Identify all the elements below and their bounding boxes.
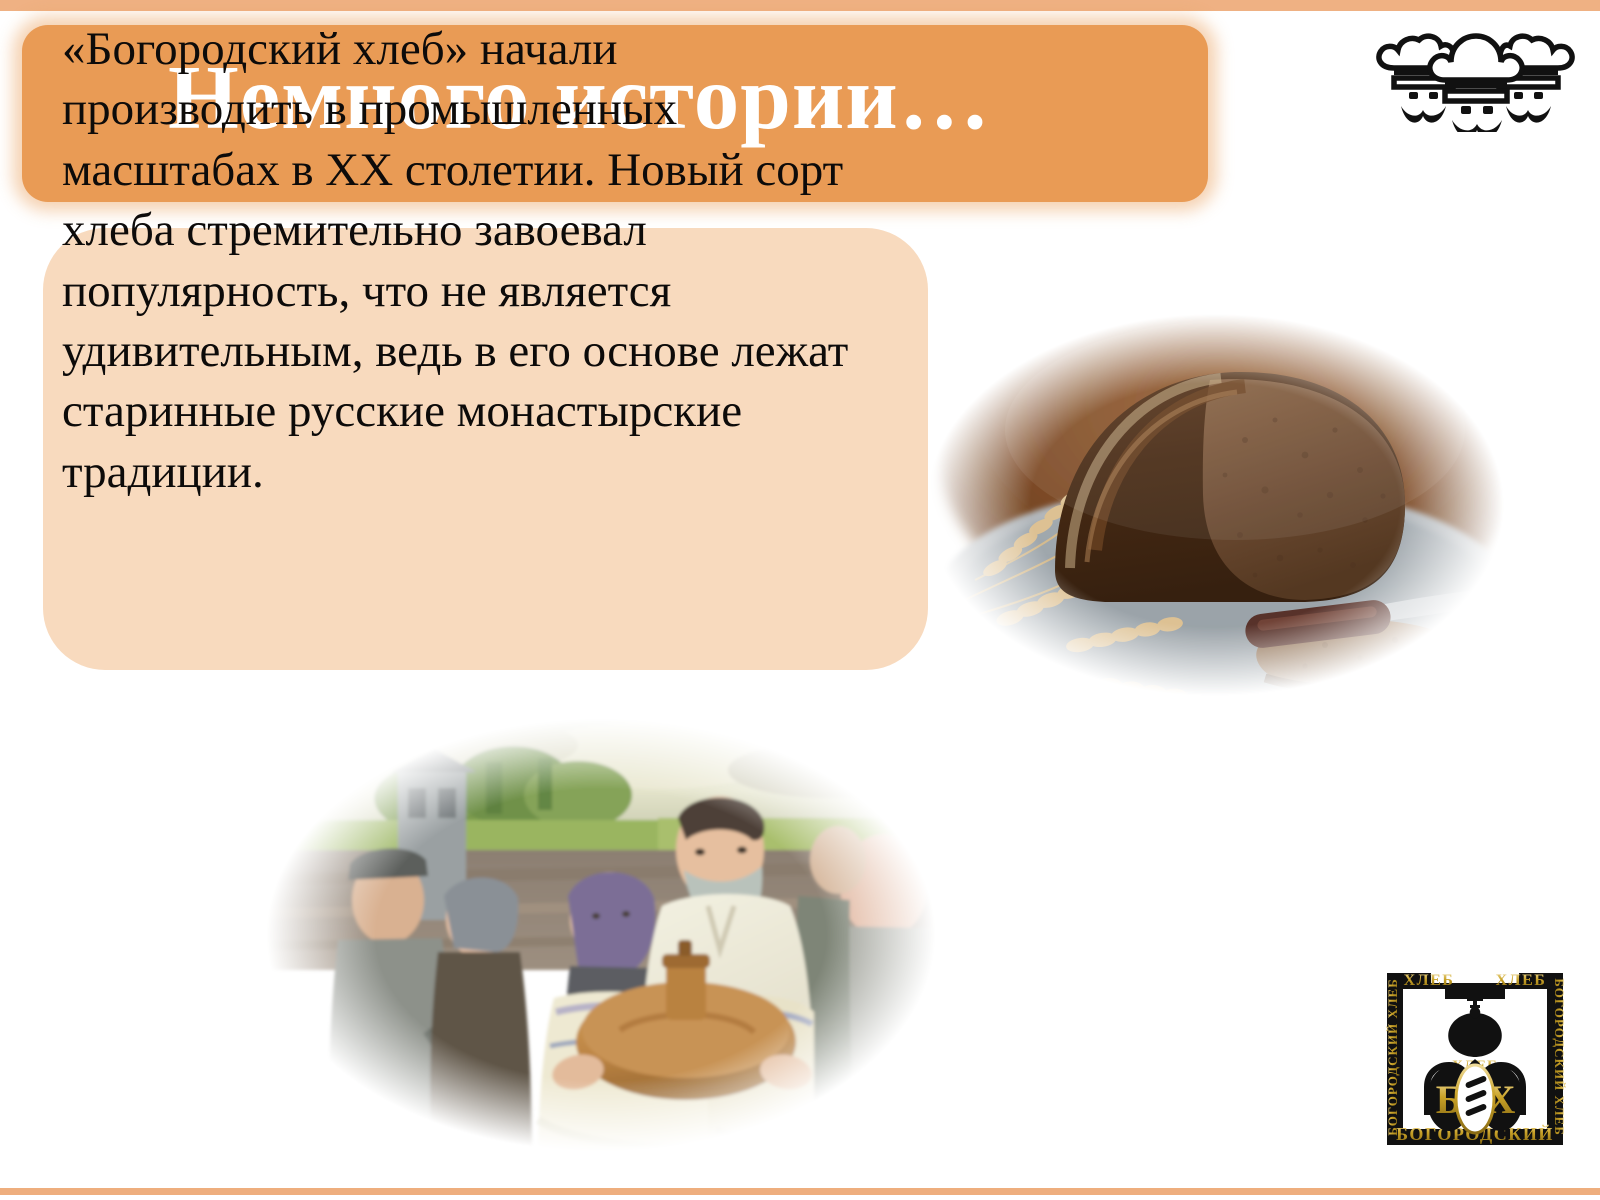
body-text: «Богородский хлеб» начали производить в … <box>62 19 874 502</box>
three-chef-hats-icon <box>1371 22 1581 132</box>
bread-and-salt-painting <box>238 700 964 1170</box>
bottom-accent-strip <box>0 1188 1600 1195</box>
dark-rye-bread-photo <box>905 300 1525 710</box>
top-accent-strip <box>0 0 1600 11</box>
bogorodsky-hleb-logo: ХЛЕБ ХЛЕБ БОГОРОДСКИЙ БОГОРОДСКИЙ ХЛЕБ Б… <box>1371 953 1579 1161</box>
svg-text:БОГОРОДСКИЙ ХЛЕБ: БОГОРОДСКИЙ ХЛЕБ <box>1552 978 1567 1136</box>
svg-text:БОГОРОДСКИЙ ХЛЕБ: БОГОРОДСКИЙ ХЛЕБ <box>1385 978 1400 1136</box>
svg-text:ХЛЕБ: ХЛЕБ <box>1404 972 1455 989</box>
slide-root: Немного истории… <box>0 0 1600 1200</box>
svg-text:ХЛЕБ: ХЛЕБ <box>1496 972 1547 989</box>
